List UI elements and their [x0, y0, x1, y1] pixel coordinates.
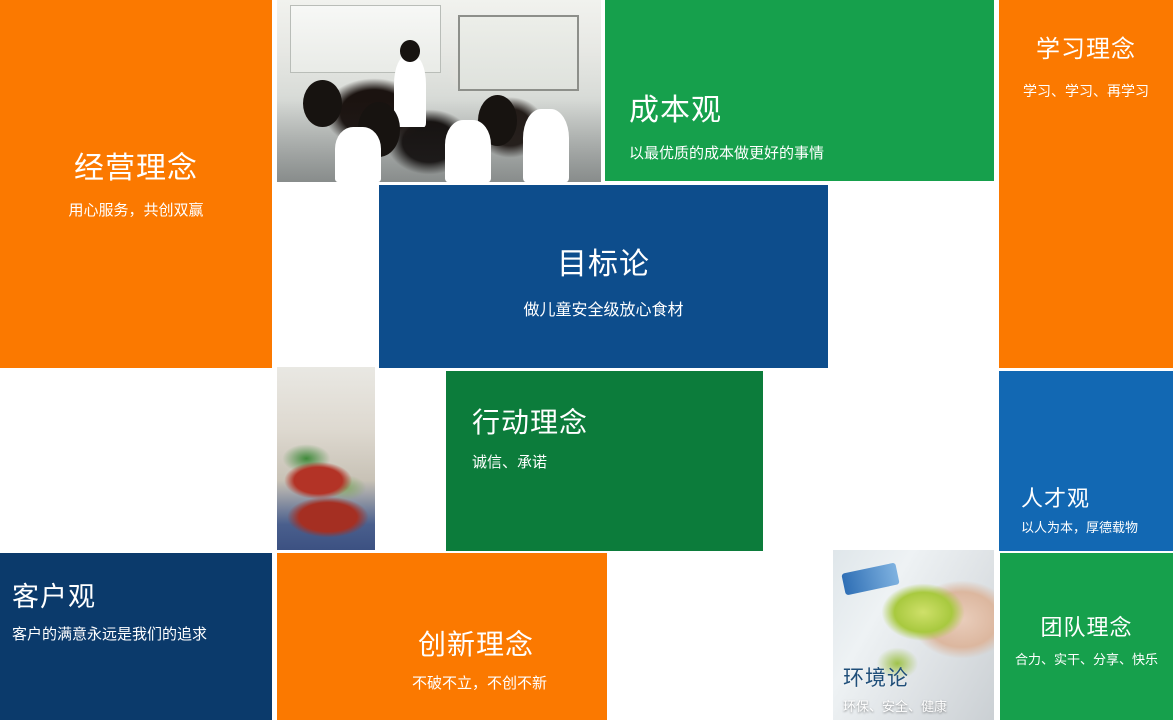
- test-strip: [841, 563, 899, 596]
- tile-action-philosophy-title: 行动理念: [472, 401, 588, 441]
- tile-talent-view-title: 人才观: [1021, 481, 1090, 513]
- tile-customer-view-subtitle: 客户的满意永远是我们的追求: [12, 623, 207, 644]
- tile-innovation-philosophy-subtitle: 不破不立，不创不新: [412, 672, 547, 693]
- tile-talent-view[interactable]: 人才观 以人为本，厚德载物: [999, 371, 1173, 551]
- tile-innovation-philosophy-title: 创新理念: [418, 623, 534, 663]
- tile-goal-theory-title: 目标论: [379, 239, 828, 283]
- tile-business-philosophy-title: 经营理念: [0, 143, 272, 187]
- tile-team-philosophy-title: 团队理念: [1000, 610, 1173, 642]
- tile-cost-view-subtitle: 以最优质的成本做更好的事情: [629, 142, 824, 163]
- tile-innovation-philosophy[interactable]: 创新理念 不破不立，不创不新: [277, 553, 607, 720]
- photo-meeting-room: [277, 0, 601, 182]
- person-seated: [445, 120, 490, 182]
- tile-environment-theory-title: 环境论: [843, 662, 909, 692]
- person-seated: [335, 127, 380, 182]
- tile-customer-view[interactable]: 客户观 客户的满意永远是我们的追求: [0, 553, 272, 720]
- tile-team-philosophy[interactable]: 团队理念 合力、实干、分享、快乐: [1000, 553, 1173, 720]
- tile-business-philosophy[interactable]: 经营理念 用心服务，共创双赢: [0, 0, 272, 368]
- tile-team-philosophy-subtitle: 合力、实干、分享、快乐: [1000, 649, 1173, 668]
- person-standing: [394, 55, 426, 128]
- tile-learning-philosophy-title: 学习理念: [999, 29, 1173, 64]
- philosophy-mosaic-board: 经营理念 用心服务，共创双赢 成本观 以最优质的成本做更好的事情 学习理念 学习…: [0, 0, 1173, 720]
- tile-learning-philosophy[interactable]: 学习理念 学习、学习、再学习: [999, 0, 1173, 368]
- whiteboard: [458, 15, 579, 92]
- tile-cost-view[interactable]: 成本观 以最优质的成本做更好的事情: [605, 0, 994, 181]
- tile-learning-philosophy-subtitle: 学习、学习、再学习: [999, 81, 1173, 101]
- tile-goal-theory-subtitle: 做儿童安全级放心食材: [379, 296, 828, 320]
- tile-environment-theory-subtitle: 环保、安全、健康: [843, 696, 947, 715]
- person-seated: [523, 109, 568, 182]
- person-head: [303, 80, 342, 127]
- tile-business-philosophy-subtitle: 用心服务，共创双赢: [0, 199, 272, 220]
- tile-environment-theory[interactable]: 环境论 环保、安全、健康: [833, 550, 994, 720]
- tile-talent-view-subtitle: 以人为本，厚德载物: [1021, 517, 1138, 536]
- tile-action-philosophy-subtitle: 诚信、承诺: [472, 451, 547, 472]
- tile-cost-view-title: 成本观: [629, 85, 722, 129]
- photo-vegetable-crates: [277, 367, 375, 550]
- tile-action-philosophy[interactable]: 行动理念 诚信、承诺: [446, 371, 763, 551]
- tile-customer-view-title: 客户观: [12, 575, 96, 614]
- person-head: [400, 40, 419, 62]
- tile-goal-theory[interactable]: 目标论 做儿童安全级放心食材: [379, 185, 828, 368]
